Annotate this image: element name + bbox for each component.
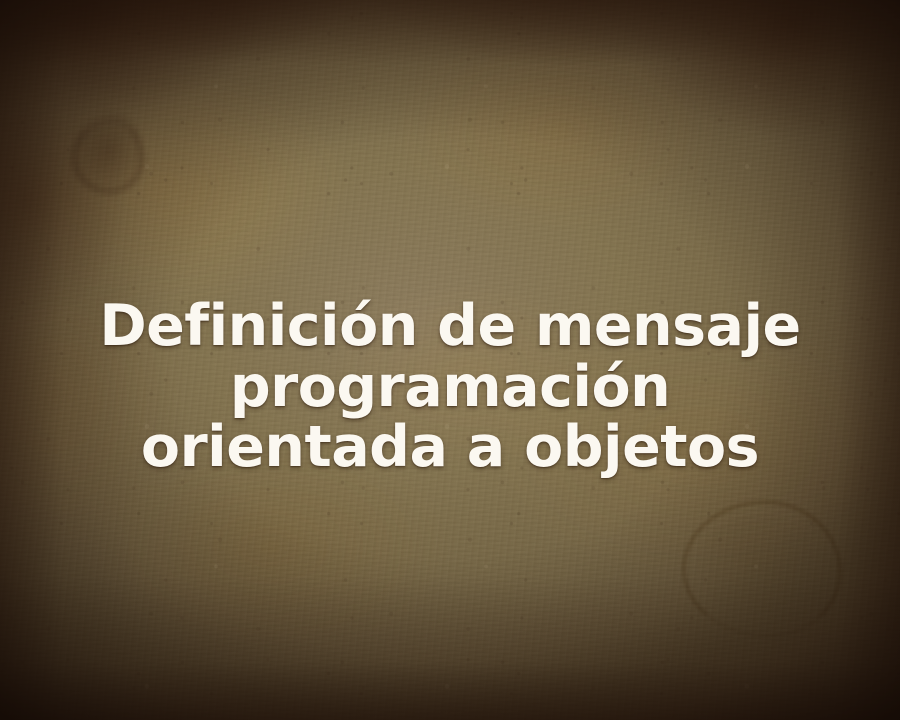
title-card: Definición de mensaje programación orien… <box>0 0 900 720</box>
title-line-2: programación <box>26 357 874 417</box>
title-line-1: Definición de mensaje <box>26 296 874 356</box>
coffee-ring-stain <box>682 500 842 638</box>
organic-stain-mark <box>44 96 164 204</box>
title-line-3: orientada a objetos <box>26 417 874 477</box>
page-title: Definición de mensaje programación orien… <box>0 296 900 477</box>
